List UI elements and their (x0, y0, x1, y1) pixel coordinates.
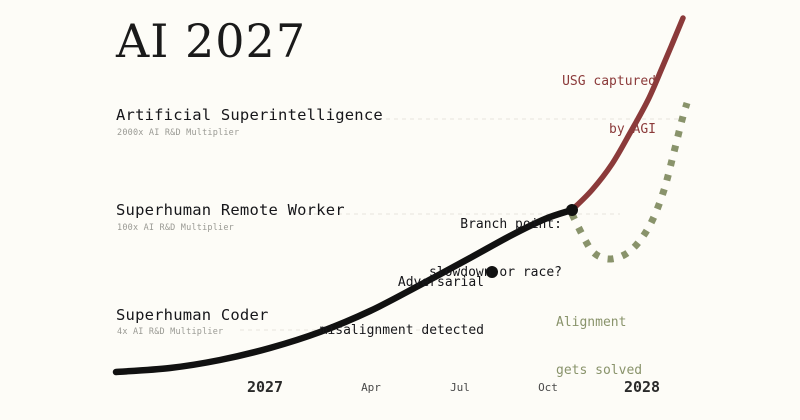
marker-branch-point (566, 204, 578, 216)
x-axis-tick-2027: 2027 (247, 378, 283, 396)
x-axis-tick-apr: Apr (361, 381, 381, 394)
x-axis-tick-jul: Jul (450, 381, 470, 394)
milestone-label-superhuman-coder: Superhuman Coder (116, 306, 269, 324)
annotation-branch-point-line1: Branch point: (368, 217, 562, 233)
x-axis-tick-2028: 2028 (624, 378, 660, 396)
milestone-label-superhuman-remote-worker: Superhuman Remote Worker (116, 201, 345, 219)
milestone-sublabel-artificial-superintelligence: 2000x AI R&D Multiplier (117, 128, 239, 138)
annotation-adversarial-misalignment-line2: misalignment detected (280, 323, 484, 339)
ai-2027-chart-figure: AI 2027 Artificial Superintelligence 200… (0, 0, 800, 420)
annotation-adversarial-misalignment: Adversarial misalignment detected (280, 243, 484, 371)
page-title: AI 2027 (116, 18, 306, 64)
annotation-adversarial-misalignment-line1: Adversarial (280, 275, 484, 291)
annotation-usg-captured-line1: USG captured (502, 74, 656, 90)
milestone-sublabel-superhuman-coder: 4x AI R&D Multiplier (117, 327, 223, 337)
annotation-alignment-solved-line1: Alignment (556, 315, 696, 331)
annotation-usg-captured-line2: by AGI (502, 122, 656, 138)
milestone-sublabel-superhuman-remote-worker: 100x AI R&D Multiplier (117, 223, 234, 233)
milestone-label-artificial-superintelligence: Artificial Superintelligence (116, 106, 383, 124)
annotation-usg-captured: USG captured by AGI (502, 42, 656, 170)
x-axis-tick-oct: Oct (538, 381, 558, 394)
annotation-alignment-solved-line2: gets solved (556, 363, 696, 379)
